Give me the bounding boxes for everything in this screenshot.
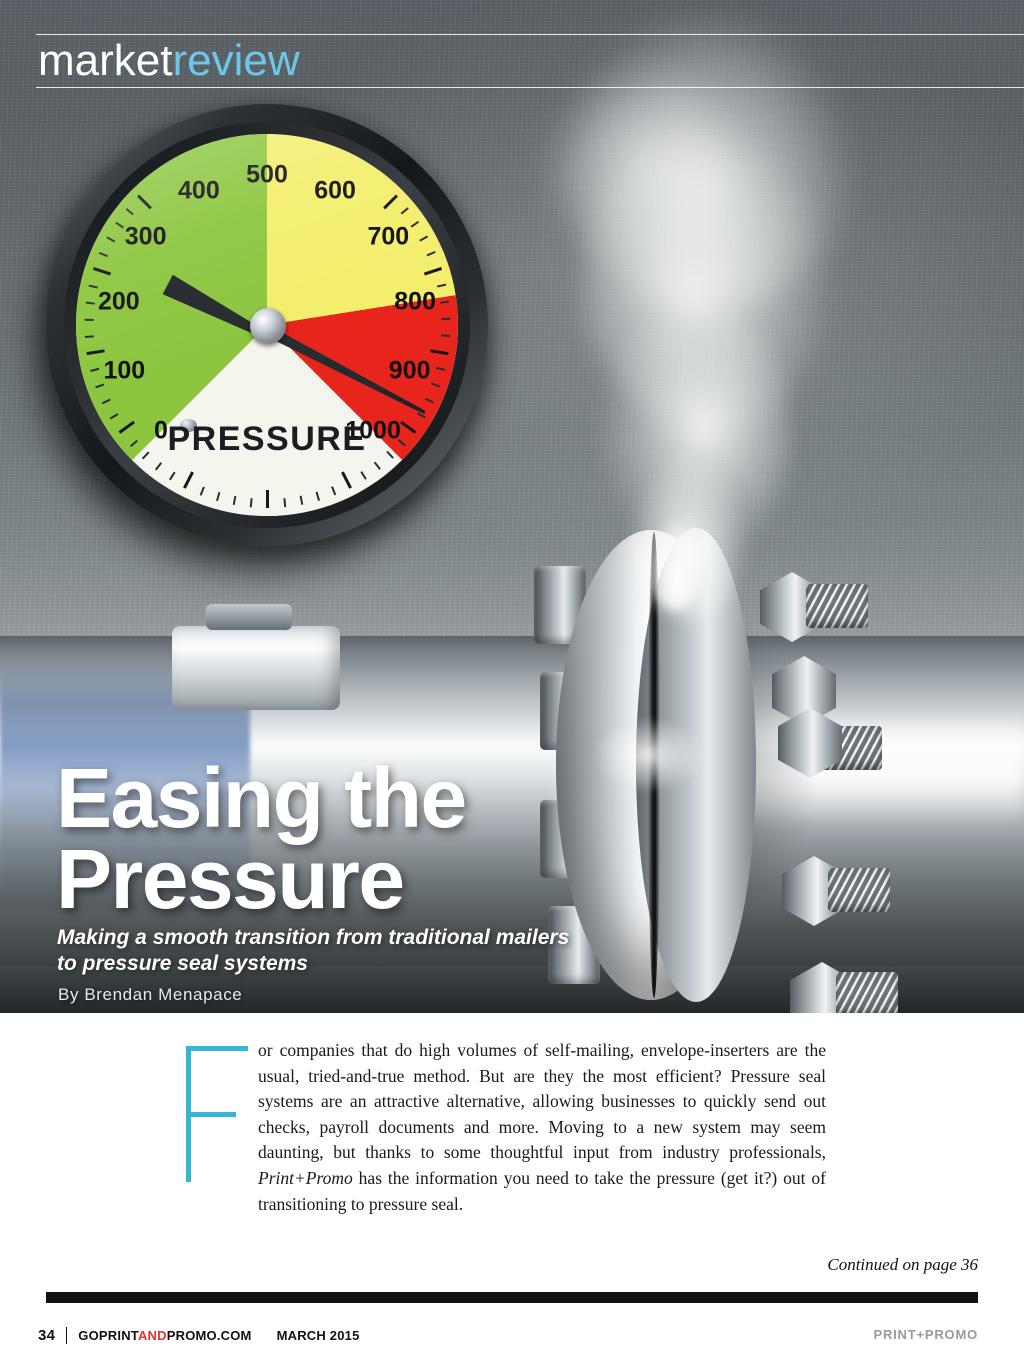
article-deck: Making a smooth transition from traditio… bbox=[57, 925, 577, 977]
masthead-market: market bbox=[38, 36, 172, 85]
footer-left: 34 GOPRINTANDPROMO.COM MARCH 2015 bbox=[38, 1327, 360, 1344]
drop-cap-middle-arm bbox=[186, 1112, 236, 1117]
article-body: or companies that do high volumes of sel… bbox=[186, 1038, 826, 1217]
gauge-face: 01002003004005006007008009001000 PRESSUR… bbox=[76, 134, 458, 516]
valve-block bbox=[172, 626, 340, 710]
article-byline: By Brendan Menapace bbox=[58, 985, 578, 1005]
flange-threaded-stud bbox=[806, 584, 868, 628]
flange-threaded-stud bbox=[828, 868, 890, 912]
page-number: 34 bbox=[38, 1327, 55, 1344]
body-paragraph: or companies that do high volumes of sel… bbox=[258, 1038, 826, 1217]
hero-image: 01002003004005006007008009001000 PRESSUR… bbox=[0, 0, 1024, 1013]
drop-cap-f bbox=[186, 1046, 248, 1182]
site-accent: AND bbox=[138, 1328, 167, 1343]
site-prefix: GOPRINT bbox=[78, 1328, 138, 1343]
masthead-rule-bottom bbox=[36, 87, 1024, 88]
masthead-title: marketreview bbox=[0, 35, 1024, 87]
footer-rule bbox=[46, 1292, 978, 1303]
site-suffix: PROMO.COM bbox=[167, 1328, 252, 1343]
article-headline: Easing the Pressure bbox=[56, 758, 656, 920]
flange-threaded-stud bbox=[836, 972, 898, 1013]
masthead-review: review bbox=[172, 36, 299, 85]
website-url[interactable]: GOPRINTANDPROMO.COM bbox=[78, 1328, 251, 1343]
publication-name: PRINT+PROMO bbox=[873, 1327, 978, 1342]
footer-divider bbox=[66, 1327, 67, 1344]
masthead: marketreview bbox=[0, 34, 1024, 88]
pressure-gauge: 01002003004005006007008009001000 PRESSUR… bbox=[46, 104, 488, 546]
continued-note: Continued on page 36 bbox=[0, 1255, 978, 1275]
issue-date: MARCH 2015 bbox=[277, 1328, 360, 1343]
headline-line-1: Easing the bbox=[56, 758, 656, 839]
drop-cap-top-arm bbox=[186, 1046, 248, 1051]
headline-line-2: Pressure bbox=[56, 839, 656, 920]
gauge-glass-glare bbox=[76, 134, 458, 516]
